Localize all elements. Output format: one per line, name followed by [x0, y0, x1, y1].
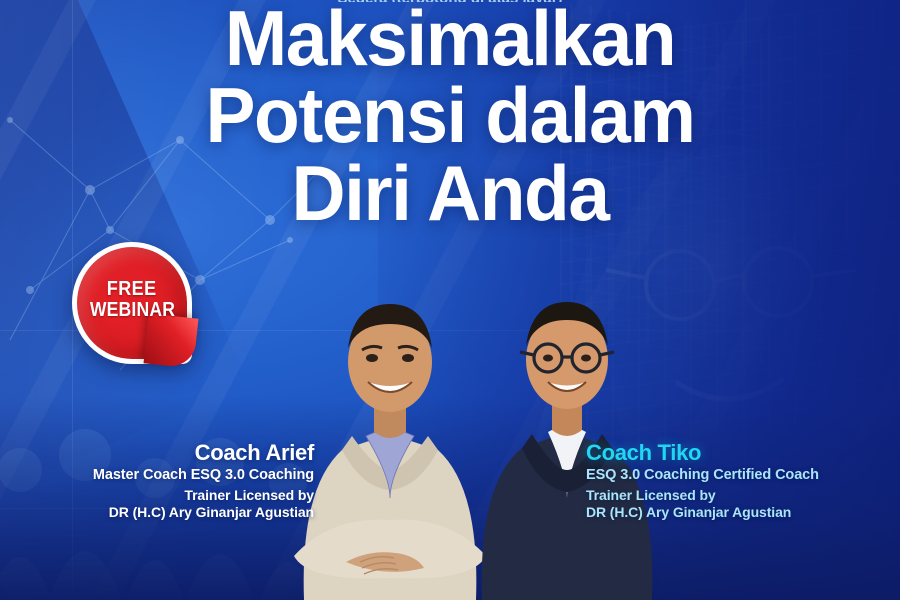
- speaker-caption-tiko: Coach Tiko ESQ 3.0 Coaching Certified Co…: [578, 440, 878, 520]
- speaker-license-line2-arief: DR (H.C) Ary Ginanjar Agustian: [22, 504, 314, 521]
- badge-line-2: WEBINAR: [89, 300, 174, 320]
- speaker-caption-arief: Coach Arief Master Coach ESQ 3.0 Coachin…: [22, 440, 322, 520]
- free-webinar-badge[interactable]: FREE WEBINAR: [72, 242, 192, 364]
- badge-text: FREE WEBINAR: [72, 242, 192, 364]
- speaker-license-line1-arief: Trainer Licensed by: [22, 487, 314, 504]
- speaker-role-tiko: ESQ 3.0 Coaching Certified Coach: [586, 467, 878, 484]
- speaker-license-line1-tiko: Trainer Licensed by: [586, 487, 878, 504]
- speaker-license-line2-tiko: DR (H.C) Ary Ginanjar Agustian: [586, 504, 878, 521]
- speaker-role-arief: Master Coach ESQ 3.0 Coaching: [22, 467, 314, 484]
- badge-line-1: FREE: [107, 279, 157, 299]
- speaker-photo-tiko: [462, 270, 672, 600]
- webinar-poster: Segera (terpotong di atas layar) Maksima…: [0, 0, 900, 600]
- speaker-name-tiko: Coach Tiko: [586, 440, 878, 466]
- speaker-name-arief: Coach Arief: [22, 440, 314, 466]
